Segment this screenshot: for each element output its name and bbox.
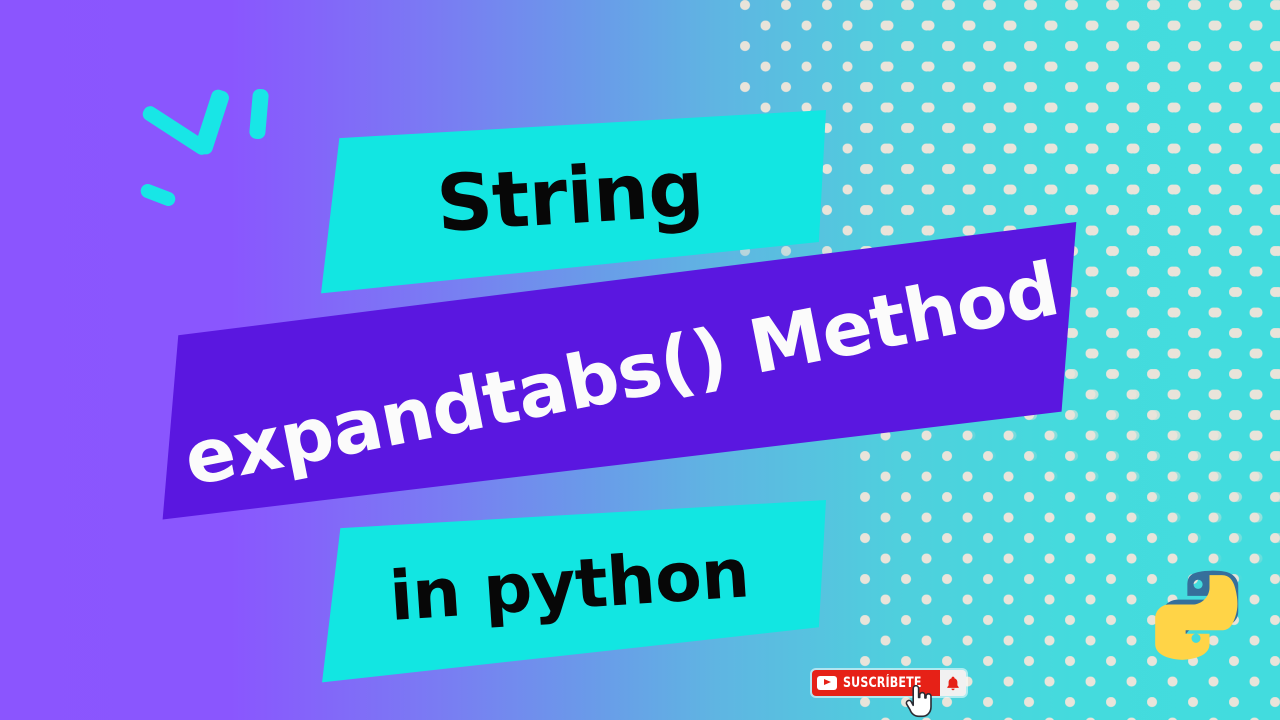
banner-in-python-label: in python [388,540,752,632]
sparkle-stroke-icon [140,104,212,158]
notification-bell-button[interactable] [940,670,966,696]
notification-bell-icon [946,676,960,691]
sparkle-stroke-icon [139,182,178,208]
subscribe-button-main[interactable]: SUSCRÍBETE [812,670,940,696]
banner-string-label: String [435,150,706,244]
sparkle-stroke-icon [249,88,269,139]
banner-in-python: in python [318,500,826,690]
banner-method: expandtabs() Method [158,222,1080,524]
subscribe-button[interactable]: SUSCRÍBETE [812,670,966,696]
sparkle-decoration-group [130,85,300,215]
subscribe-button-label: SUSCRÍBETE [843,676,922,690]
sparkle-stroke-icon [193,88,231,156]
youtube-play-icon [817,676,837,690]
thumbnail-canvas: String expandtabs() Method in python SUS… [0,0,1280,720]
python-logo-icon [1142,568,1264,690]
banner-method-label: expandtabs() Method [178,252,1064,497]
